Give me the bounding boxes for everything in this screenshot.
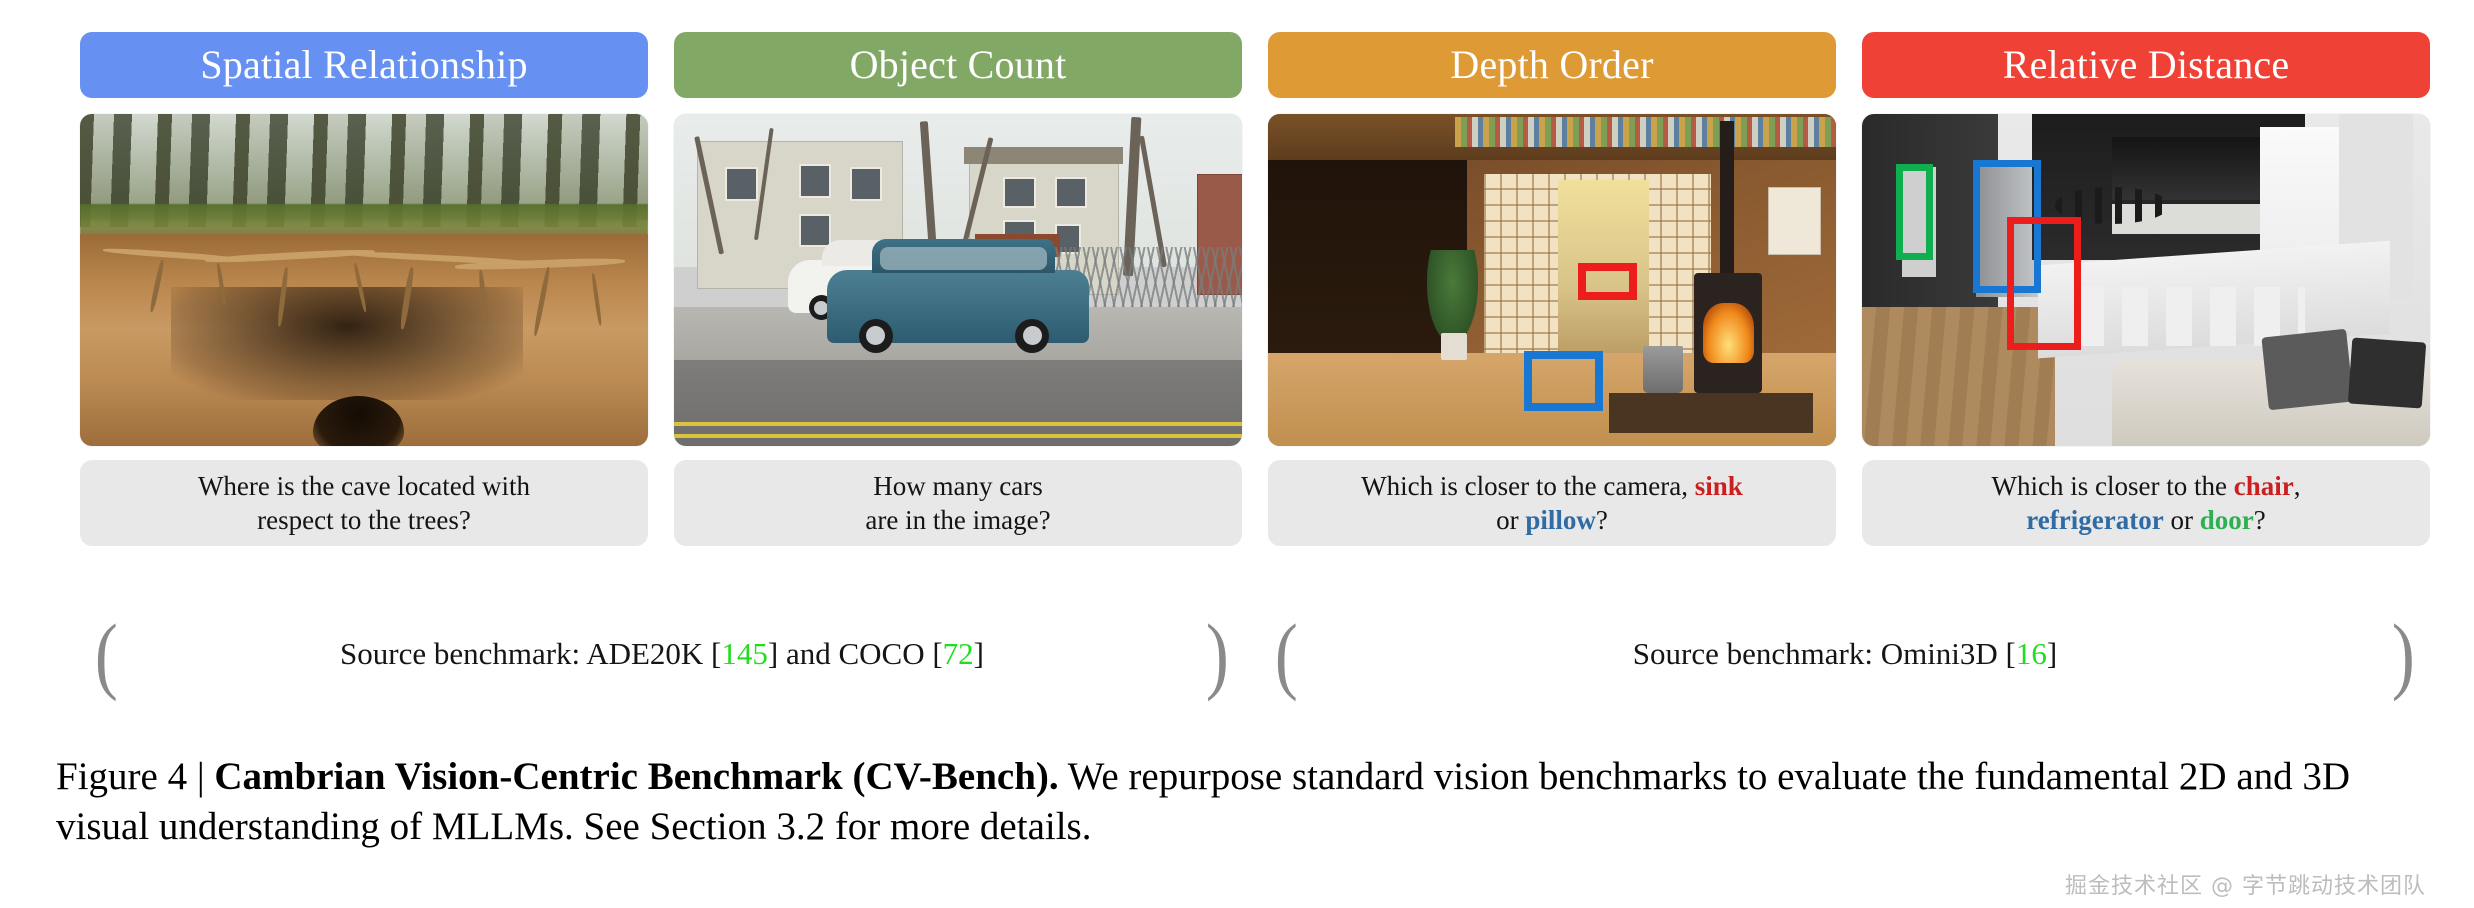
figure-page: Spatial Relationship <box>0 0 2474 908</box>
question-box-relative-distance: Which is closer to the chair, refrigerat… <box>1862 460 2430 546</box>
caption-label: Figure 4 | <box>56 755 214 798</box>
source-benchmark-2d: ( Source benchmark: ADE20K [145] and COC… <box>92 636 1232 672</box>
question-box-object-count: How many cars are in the image? <box>674 460 1242 546</box>
question-box-spatial-relationship: Where is the cave located with respect t… <box>80 460 648 546</box>
question-line-1: Where is the cave located with <box>198 471 530 501</box>
question-prefix: Which is closer to the camera, <box>1361 471 1695 501</box>
panel-relative-distance: Relative Distance <box>1862 32 2430 546</box>
source-suffix: ] <box>2047 636 2057 671</box>
question-or: or <box>1496 505 1525 535</box>
caption-bold-title: Cambrian Vision-Centric Benchmark (CV-Be… <box>214 755 1058 798</box>
photo-spatial-relationship <box>80 114 648 446</box>
question-line-2: respect to the trees? <box>257 505 471 535</box>
bbox-door <box>1896 164 1933 260</box>
panel-title-spatial-relationship: Spatial Relationship <box>80 32 648 98</box>
question-or: or <box>2164 505 2200 535</box>
panel-spatial-relationship: Spatial Relationship <box>80 32 648 546</box>
citation-72: 72 <box>943 636 974 671</box>
question-line-2: are in the image? <box>865 505 1050 535</box>
source-benchmark-3d: ( Source benchmark: Omini3D [16] ) <box>1272 636 2418 672</box>
question-prefix: Which is closer to the <box>1992 471 2234 501</box>
panel-row: Spatial Relationship <box>80 32 2430 546</box>
panel-title-relative-distance: Relative Distance <box>1862 32 2430 98</box>
question-suffix: ? <box>2254 505 2266 535</box>
panel-title-depth-order: Depth Order <box>1268 32 1836 98</box>
question-line-1: How many cars <box>873 471 1042 501</box>
keyword-chair: chair <box>2234 471 2294 501</box>
car-teal-wagon <box>827 270 1088 343</box>
question-mid: , <box>2294 471 2301 501</box>
source-benchmark-2d-text: Source benchmark: ADE20K [145] and COCO … <box>322 636 1002 672</box>
keyword-sink: sink <box>1695 471 1743 501</box>
photo-depth-order <box>1268 114 1836 446</box>
photo-relative-distance <box>1862 114 2430 446</box>
citation-145: 145 <box>721 636 768 671</box>
scene-street-with-parked-cars <box>674 114 1242 446</box>
scene-eroded-bank-with-tree-roots-and-cave <box>80 114 648 446</box>
photo-object-count <box>674 114 1242 446</box>
source-benchmark-3d-text: Source benchmark: Omini3D [16] <box>1615 636 2075 672</box>
keyword-door: door <box>2200 505 2254 535</box>
bbox-pillow <box>1524 351 1604 411</box>
scene-japanese-room-with-wood-stove <box>1268 114 1836 446</box>
panel-depth-order: Depth Order <box>1268 32 1836 546</box>
bbox-chair <box>2007 217 2081 350</box>
source-suffix: ] <box>974 636 984 671</box>
source-middle: ] and COCO [ <box>768 636 943 671</box>
scene-modern-kitchen-and-living-room <box>1862 114 2430 446</box>
panel-object-count: Object Count <box>674 32 1242 546</box>
panel-title-object-count: Object Count <box>674 32 1242 98</box>
keyword-refrigerator: refrigerator <box>2026 505 2163 535</box>
figure-caption: Figure 4 | Cambrian Vision-Centric Bench… <box>56 752 2428 852</box>
question-box-depth-order: Which is closer to the camera, sink or p… <box>1268 460 1836 546</box>
watermark: 掘金技术社区 @ 字节跳动技术团队 <box>2065 868 2426 900</box>
keyword-pillow: pillow <box>1525 505 1596 535</box>
source-prefix: Source benchmark: Omini3D [ <box>1633 636 2016 671</box>
bbox-sink <box>1578 263 1638 300</box>
question-suffix: ? <box>1596 505 1608 535</box>
source-prefix: Source benchmark: ADE20K [ <box>340 636 721 671</box>
citation-16: 16 <box>2016 636 2047 671</box>
